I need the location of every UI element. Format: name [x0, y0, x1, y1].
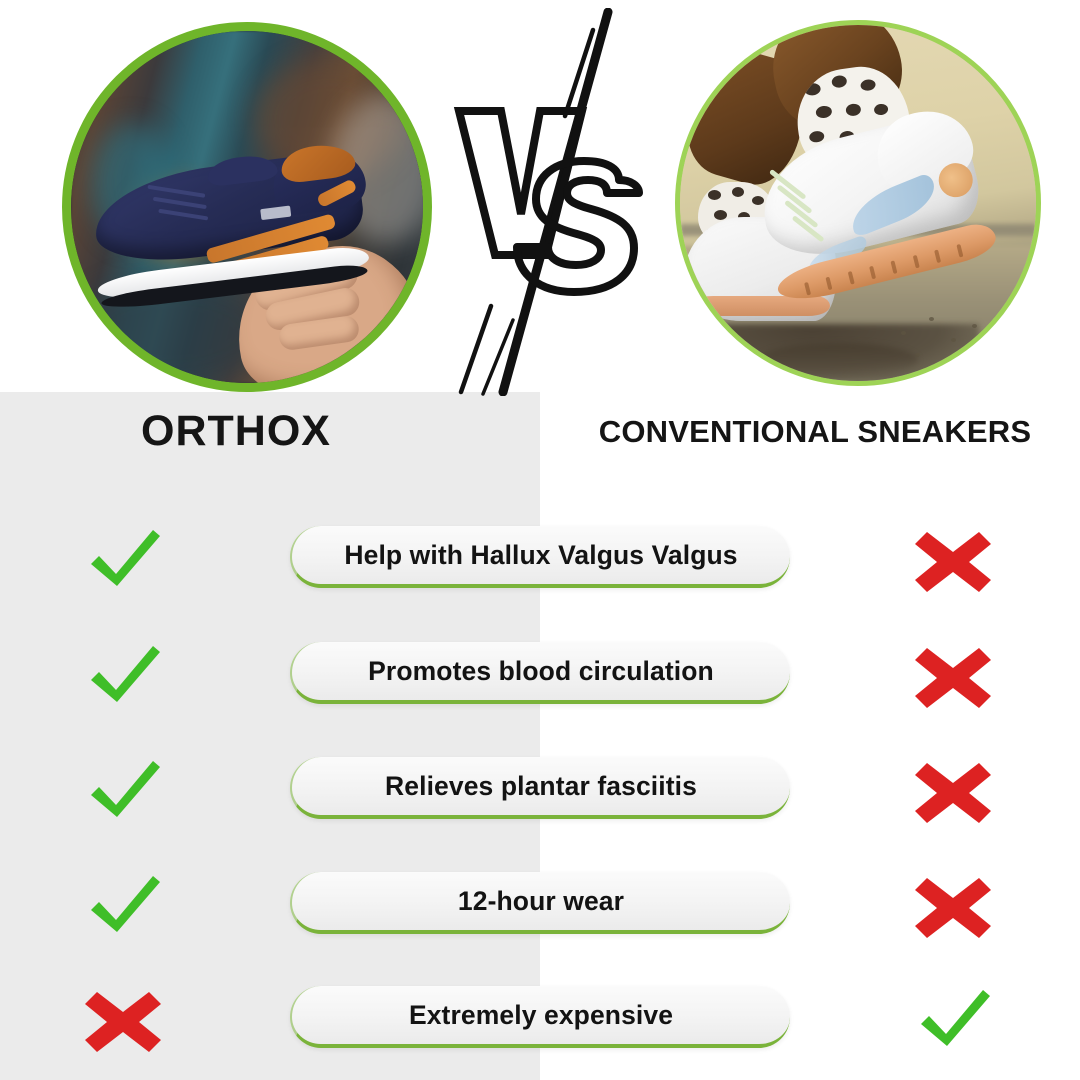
- table-row: Promotes blood circulation: [0, 642, 1080, 718]
- feature-label: Relieves plantar fasciitis: [385, 771, 697, 802]
- feature-label: 12-hour wear: [458, 886, 624, 917]
- green-check-icon: [75, 868, 171, 944]
- table-row: Extremely expensive: [0, 986, 1080, 1062]
- feature-pill: Help with Hallux Valgus Valgus: [290, 526, 790, 588]
- red-cross-icon: [905, 753, 1001, 829]
- red-cross-icon: [905, 522, 1001, 598]
- feature-label: Help with Hallux Valgus Valgus: [344, 540, 737, 571]
- feature-pill: Extremely expensive: [290, 986, 790, 1048]
- feature-pill: Relieves plantar fasciitis: [290, 757, 790, 819]
- feature-pill: Promotes blood circulation: [290, 642, 790, 704]
- feature-pill: 12-hour wear: [290, 872, 790, 934]
- green-check-icon: [75, 522, 171, 598]
- table-row: Relieves plantar fasciitis: [0, 757, 1080, 833]
- table-row: Help with Hallux Valgus Valgus: [0, 526, 1080, 602]
- red-cross-icon: [905, 868, 1001, 944]
- feature-label: Promotes blood circulation: [368, 656, 714, 687]
- table-row: 12-hour wear: [0, 872, 1080, 948]
- green-check-icon: [75, 638, 171, 714]
- comparison-infographic: ORTHOX CONVENTIONAL SNEAKERS Help with H…: [0, 0, 1080, 1080]
- comparison-table: Help with Hallux Valgus Valgus Promotes …: [0, 0, 1080, 1080]
- green-check-icon: [905, 982, 1001, 1058]
- green-check-icon: [75, 753, 171, 829]
- feature-label: Extremely expensive: [409, 1000, 673, 1031]
- red-cross-icon: [905, 638, 1001, 714]
- red-cross-icon: [75, 982, 171, 1058]
